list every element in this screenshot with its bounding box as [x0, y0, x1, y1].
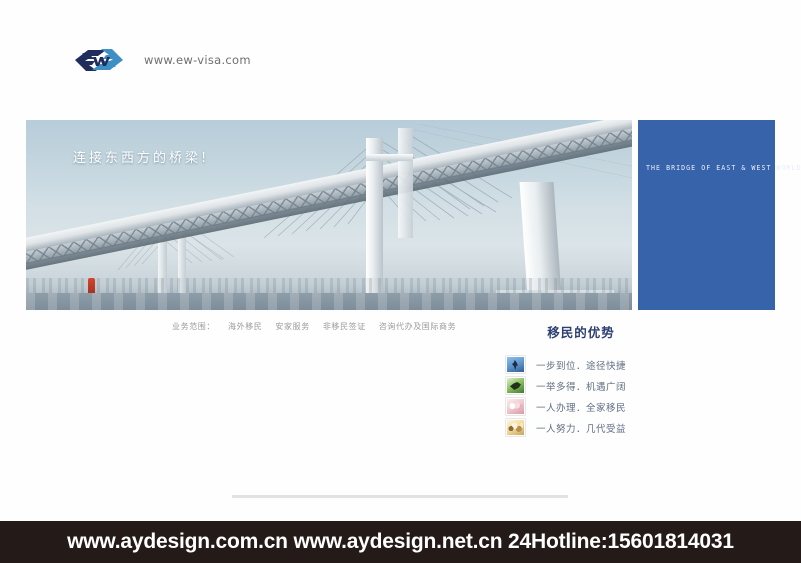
family-group-thumb-icon: [506, 419, 525, 436]
horizontal-divider: [232, 495, 568, 498]
distant-skyline: [26, 278, 632, 294]
footer-banner: www.aydesign.com.cn www.aydesign.net.cn …: [0, 521, 801, 563]
services-scope-line: 业务范围：海外移民安家服务非移民签证咨询代办及国际商务: [172, 321, 456, 332]
advantage-row: 一人努力．几代受益: [506, 418, 656, 437]
services-prefix: 业务范围：: [172, 322, 215, 331]
hero-caption-text: 连接东西方的桥梁!: [73, 147, 209, 166]
service-item-0: 海外移民: [228, 322, 262, 331]
immigration-advantages-block: 移民的优势 一步到位．途径快捷 一举多得．机遇广阔 一人办理．全家移民 一人努力…: [506, 322, 656, 439]
near-tower-crossbeam: [366, 154, 413, 161]
dancer-feet-thumb-icon: [506, 377, 525, 394]
hero-bridge-image: 连接东西方的桥梁!: [26, 120, 632, 310]
blue-panel-tagline: THE BRIDGE OF EAST & WEST WORLD: [646, 164, 769, 173]
page-canvas: www.ew-visa.com: [0, 0, 801, 563]
blue-tagline-panel: THE BRIDGE OF EAST & WEST WORLD: [638, 120, 775, 310]
advantage-row: 一步到位．途径快捷: [506, 355, 656, 374]
advantage-label: 一人办理．全家移民: [536, 400, 626, 414]
near-bridge-tower: [366, 138, 383, 298]
advantages-title: 移民的优势: [506, 322, 656, 341]
service-item-2: 非移民签证: [323, 322, 366, 331]
advantage-row: 一举多得．机遇广阔: [506, 376, 656, 395]
page-header: www.ew-visa.com: [72, 36, 432, 84]
advantage-label: 一步到位．途径快捷: [536, 358, 626, 372]
service-item-3: 咨询代办及国际商务: [379, 322, 456, 331]
advantage-label: 一人努力．几代受益: [536, 421, 626, 435]
advantage-row: 一人办理．全家移民: [506, 397, 656, 416]
family-baby-thumb-icon: [506, 398, 525, 415]
ew-diamond-logo-icon[interactable]: [72, 40, 126, 80]
service-item-1: 安家服务: [275, 322, 309, 331]
near-bridge-tower-leg: [398, 128, 413, 238]
footer-contact-text: www.aydesign.com.cn www.aydesign.net.cn …: [67, 530, 734, 554]
advantage-label: 一举多得．机遇广阔: [536, 379, 626, 393]
jumping-person-thumb-icon: [506, 356, 525, 373]
harbour-water: [26, 293, 632, 310]
site-url-text[interactable]: www.ew-visa.com: [144, 53, 251, 67]
